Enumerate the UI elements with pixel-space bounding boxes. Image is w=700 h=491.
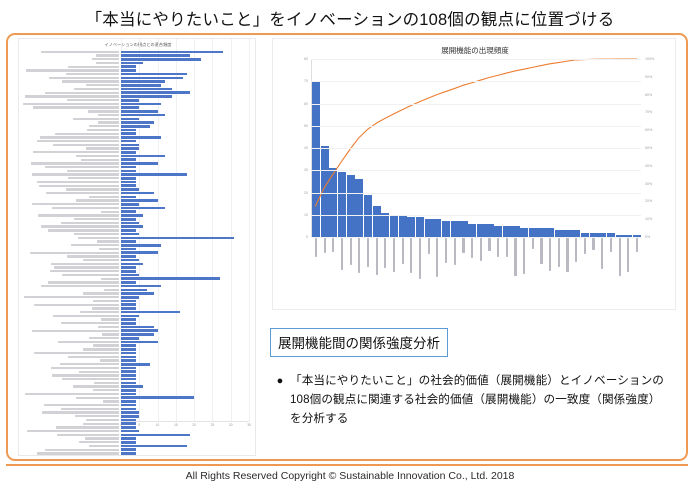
pareto-chart-card: 展開機能の出現頻度 010203040506070800%10%20%30%40… xyxy=(272,38,676,310)
pareto-y-tick: 70 xyxy=(304,79,308,83)
pareto-x-label xyxy=(442,238,450,298)
pareto-x-label xyxy=(338,238,346,298)
analysis-body-text: 「本当にやりたいこと」の社会的価値（展開機能）とイノベーションの108個の観点に… xyxy=(290,371,670,428)
pareto-y-tick: 40 xyxy=(304,146,308,150)
pareto-x-label xyxy=(503,238,511,298)
pareto-x-label xyxy=(581,238,589,298)
pareto-y2-tick: 30% xyxy=(645,182,652,186)
pareto-y2-tick: 80% xyxy=(645,93,652,97)
pareto-x-label xyxy=(520,238,528,298)
pareto-y2-tick: 90% xyxy=(645,75,652,79)
pareto-gridline xyxy=(311,215,641,216)
pareto-gridline xyxy=(311,193,641,194)
pareto-x-label xyxy=(364,238,372,298)
pareto-x-label xyxy=(407,238,415,298)
pareto-x-label xyxy=(321,238,329,298)
pareto-x-label xyxy=(416,238,424,298)
pareto-y-tick: 60 xyxy=(304,102,308,106)
pareto-x-label xyxy=(355,238,363,298)
pareto-x-label xyxy=(616,238,624,298)
pareto-x-label xyxy=(425,238,433,298)
pareto-x-label xyxy=(373,238,381,298)
pareto-x-label xyxy=(537,238,545,298)
pareto-gridline xyxy=(311,81,641,82)
pareto-y2-tick: 50% xyxy=(645,146,652,150)
pareto-y2-tick: 60% xyxy=(645,128,652,132)
pareto-plot-area: 010203040506070800%10%20%30%40%50%60%70%… xyxy=(311,59,641,237)
pareto-y-tick: 50 xyxy=(304,124,308,128)
pareto-y-tick: 30 xyxy=(304,168,308,172)
pareto-y-tick: 20 xyxy=(304,191,308,195)
analysis-block: 展開機能間の関係強度分析 ● 「本当にやりたいこと」の社会的価値（展開機能）とイ… xyxy=(270,328,670,428)
pareto-x-label xyxy=(477,238,485,298)
pareto-y2-tick: 0% xyxy=(645,235,650,239)
bullet-icon: ● xyxy=(270,371,290,428)
pareto-gridline xyxy=(311,148,641,149)
pareto-x-label xyxy=(468,238,476,298)
pareto-y2-tick: 10% xyxy=(645,217,652,221)
page-title: 「本当にやりたいこと」をイノベーションの108個の観点に位置づける xyxy=(0,6,700,30)
pareto-x-label xyxy=(598,238,606,298)
pareto-y2-tick: 100% xyxy=(645,57,654,61)
pareto-x-label xyxy=(624,238,632,298)
pareto-x-label xyxy=(390,238,398,298)
pareto-x-label xyxy=(399,238,407,298)
pareto-gridline xyxy=(311,59,641,60)
pareto-gridline xyxy=(311,170,641,171)
left-chart-row xyxy=(19,455,256,456)
pareto-x-axis-labels xyxy=(312,238,641,298)
pareto-gridline xyxy=(311,104,641,105)
pareto-x-label xyxy=(563,238,571,298)
pareto-x-label xyxy=(329,238,337,298)
left-chart-card: イノベーションの観点との適合頻度 05101520253035 xyxy=(18,38,256,456)
pareto-x-label xyxy=(347,238,355,298)
pareto-y-tick: 80 xyxy=(304,57,308,61)
pareto-x-label xyxy=(494,238,502,298)
pareto-x-label xyxy=(381,238,389,298)
pareto-x-label xyxy=(555,238,563,298)
analysis-heading: 展開機能間の関係強度分析 xyxy=(270,328,448,357)
pareto-x-label xyxy=(633,238,641,298)
pareto-y2-tick: 40% xyxy=(645,164,652,168)
pareto-y-tick: 0 xyxy=(306,235,308,239)
pareto-x-label xyxy=(529,238,537,298)
left-chart-x-axis: 05101520253035 xyxy=(121,423,249,431)
pareto-x-label xyxy=(590,238,598,298)
footer-copyright: All Rights Reserved Copyright © Sustaina… xyxy=(0,470,700,482)
pareto-gridline xyxy=(311,126,641,127)
pareto-x-label xyxy=(511,238,519,298)
left-chart-plot xyxy=(19,50,256,442)
footer-divider xyxy=(6,464,688,466)
pareto-x-label xyxy=(459,238,467,298)
pareto-x-label xyxy=(433,238,441,298)
pareto-x-label xyxy=(485,238,493,298)
pareto-y-tick: 10 xyxy=(304,213,308,217)
pareto-y2-tick: 70% xyxy=(645,110,652,114)
analysis-bullet-row: ● 「本当にやりたいこと」の社会的価値（展開機能）とイノベーションの108個の観… xyxy=(270,371,670,428)
pareto-x-label xyxy=(607,238,615,298)
pareto-x-label xyxy=(546,238,554,298)
pareto-x-label xyxy=(312,238,320,298)
pareto-x-label xyxy=(451,238,459,298)
pareto-y2-tick: 20% xyxy=(645,199,652,203)
pareto-chart-title: 展開機能の出現頻度 xyxy=(273,45,677,56)
pareto-x-label xyxy=(572,238,580,298)
